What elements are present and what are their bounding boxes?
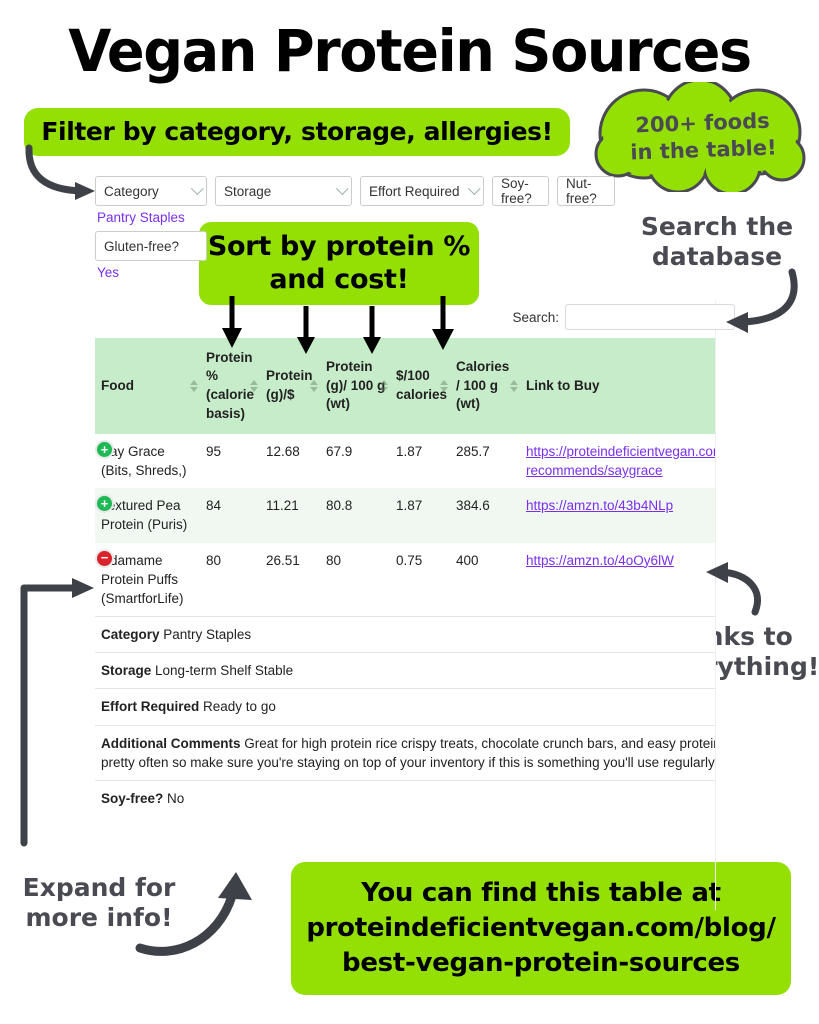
cell-protein-pct: 84 [200, 488, 260, 542]
search-row: Search: [95, 304, 735, 330]
col-header-link-to-buy: Link to Buy [520, 338, 715, 434]
effort-select[interactable]: Effort Required [360, 176, 484, 206]
detail-cell: Effort Required Ready to go [95, 689, 715, 725]
table-scroll-container[interactable]: Food Protein % (calorie basis) Protein (… [95, 338, 715, 816]
detail-row-storage: Storage Long-term Shelf Stable [95, 653, 715, 689]
col-header-protein-per-dollar[interactable]: Protein (g)/$ [260, 338, 320, 434]
category-select[interactable]: Category [95, 176, 207, 206]
filter-category: Category Pantry Staples [95, 176, 207, 225]
cell-protein-per-dollar: 11.21 [260, 488, 320, 542]
table-header-row: Food Protein % (calorie basis) Protein (… [95, 338, 715, 434]
detail-key: Additional Comments [101, 736, 241, 751]
cell-link[interactable]: https://amzn.to/4oOy6lW [520, 543, 715, 617]
cell-food[interactable]: + Textured Pea Protein (Puris) [95, 488, 200, 542]
detail-row-comments: Additional Comments Great for high prote… [95, 725, 715, 780]
detail-cell: Additional Comments Great for high prote… [95, 725, 715, 780]
sort-toggle-icon[interactable] [380, 380, 388, 392]
filter-soy-free: Soy-free? [492, 176, 549, 206]
col-header-protein-per-100g[interactable]: Protein (g)/ 100 g (wt) [320, 338, 390, 434]
table-row[interactable]: + Say Grace (Bits, Shreds,) 95 12.68 67.… [95, 434, 715, 488]
storage-select[interactable]: Storage [215, 176, 352, 206]
sort-toggle-icon[interactable] [510, 380, 518, 392]
col-label: Calories / 100 g (wt) [456, 359, 509, 411]
cell-calories-per-100g: 400 [450, 543, 520, 617]
sort-toggle-icon[interactable] [190, 380, 198, 392]
table-head: Food Protein % (calorie basis) Protein (… [95, 338, 715, 434]
soy-free-button[interactable]: Soy-free? [492, 176, 549, 206]
annotation-expand: Expand for more info! [6, 873, 192, 932]
cell-protein-pct: 80 [200, 543, 260, 617]
detail-cell: Soy-free? No [95, 780, 715, 816]
filter-effort: Effort Required [360, 176, 484, 206]
col-label: Protein (g)/ 100 g (wt) [326, 359, 385, 411]
sort-toggle-icon[interactable] [250, 380, 258, 392]
detail-key: Effort Required [101, 699, 199, 714]
col-header-dollar-per-100cal[interactable]: $/100 calories [390, 338, 450, 434]
chevron-down-icon [191, 182, 204, 195]
protein-table: Food Protein % (calorie basis) Protein (… [95, 338, 715, 816]
arrow-expand-info-head [218, 872, 252, 900]
cell-protein-per-100g: 80.8 [320, 488, 390, 542]
col-header-protein-pct[interactable]: Protein % (calorie basis) [200, 338, 260, 434]
buy-link[interactable]: https://amzn.to/43b4NLp [526, 498, 673, 513]
detail-key: Category [101, 627, 160, 642]
effort-select-label: Effort Required [369, 184, 460, 199]
col-label: Link to Buy [526, 378, 600, 393]
detail-value: Long-term Shelf Stable [155, 663, 293, 678]
search-input[interactable] [565, 304, 735, 330]
buy-link[interactable]: https://proteindeficientvegan.com/recomm… [526, 444, 715, 478]
arrow-to-expanded-row-head [72, 578, 94, 598]
gluten-free-button[interactable]: Gluten-free? [95, 231, 207, 261]
cell-link[interactable]: https://proteindeficientvegan.com/recomm… [520, 434, 715, 488]
cell-protein-per-dollar: 26.51 [260, 543, 320, 617]
cell-protein-per-100g: 80 [320, 543, 390, 617]
arrow-to-filters-head [75, 182, 95, 200]
filter-storage: Storage [215, 176, 352, 206]
table-body: + Say Grace (Bits, Shreds,) 95 12.68 67.… [95, 434, 715, 816]
table-row[interactable]: − Edamame Protein Puffs (SmartforLife) 8… [95, 543, 715, 617]
chevron-down-icon [336, 182, 349, 195]
detail-value: Pantry Staples [163, 627, 251, 642]
cell-protein-per-100g: 67.9 [320, 434, 390, 488]
page-title: Vegan Protein Sources [16, 20, 802, 84]
detail-row-category: Category Pantry Staples [95, 617, 715, 653]
table-widget: Category Pantry Staples Storage Effort R… [95, 176, 735, 816]
detail-row-soy-free: Soy-free? No [95, 780, 715, 816]
sort-toggle-icon[interactable] [440, 380, 448, 392]
table-row[interactable]: + Textured Pea Protein (Puris) 84 11.21 … [95, 488, 715, 542]
collapse-row-minus-icon[interactable]: − [97, 551, 112, 566]
filter-nut-free: Nut-free? [557, 176, 615, 206]
cell-dollar-per-100cal: 1.87 [390, 488, 450, 542]
detail-row-effort: Effort Required Ready to go [95, 689, 715, 725]
cell-protein-pct: 95 [200, 434, 260, 488]
cell-food[interactable]: − Edamame Protein Puffs (SmartforLife) [95, 543, 200, 617]
col-label: Protein (g)/$ [266, 368, 313, 402]
cell-link[interactable]: https://amzn.to/43b4NLp [520, 488, 715, 542]
detail-key: Soy-free? [101, 791, 163, 806]
detail-value: No [167, 791, 184, 806]
sort-toggle-icon[interactable] [310, 380, 318, 392]
callout-filter: Filter by category, storage, allergies! [24, 108, 570, 156]
callout-url: You can find this table at proteindefici… [291, 862, 791, 995]
filter-bar: Category Pantry Staples Storage Effort R… [95, 176, 735, 225]
cell-food[interactable]: + Say Grace (Bits, Shreds,) [95, 434, 200, 488]
category-selected-value: Pantry Staples [95, 210, 207, 225]
food-name: Edamame Protein Puffs (SmartforLife) [101, 553, 184, 606]
food-name: Say Grace (Bits, Shreds,) [101, 444, 187, 478]
arrow-to-search [742, 272, 794, 322]
gluten-free-selected-value: Yes [95, 265, 207, 280]
filter-bar-second: Gluten-free? Yes [95, 231, 735, 280]
cloud-badge-line2: in the table! [630, 134, 777, 166]
buy-link[interactable]: https://amzn.to/4oOy6lW [526, 553, 674, 568]
cell-dollar-per-100cal: 1.87 [390, 434, 450, 488]
arrow-to-expanded-row [24, 588, 77, 843]
food-name: Textured Pea Protein (Puris) [101, 498, 187, 532]
nut-free-button[interactable]: Nut-free? [557, 176, 615, 206]
search-label: Search: [512, 310, 559, 325]
col-label: Protein % (calorie basis) [206, 350, 254, 421]
category-select-label: Category [104, 184, 159, 199]
cell-protein-per-dollar: 12.68 [260, 434, 320, 488]
storage-select-label: Storage [224, 184, 271, 199]
col-header-calories-per-100g[interactable]: Calories / 100 g (wt) [450, 338, 520, 434]
cell-dollar-per-100cal: 0.75 [390, 543, 450, 617]
expand-row-plus-icon[interactable]: + [97, 442, 112, 457]
detail-key: Storage [101, 663, 151, 678]
detail-cell: Storage Long-term Shelf Stable [95, 653, 715, 689]
detail-cell: Category Pantry Staples [95, 617, 715, 653]
poster-root: Vegan Protein Sources [0, 0, 819, 1024]
chevron-down-icon [468, 182, 481, 195]
col-header-food[interactable]: Food [95, 338, 200, 434]
cell-calories-per-100g: 285.7 [450, 434, 520, 488]
col-label: Food [101, 378, 134, 393]
detail-value: Ready to go [203, 699, 276, 714]
filter-gluten-free: Gluten-free? Yes [95, 231, 207, 280]
cell-calories-per-100g: 384.6 [450, 488, 520, 542]
